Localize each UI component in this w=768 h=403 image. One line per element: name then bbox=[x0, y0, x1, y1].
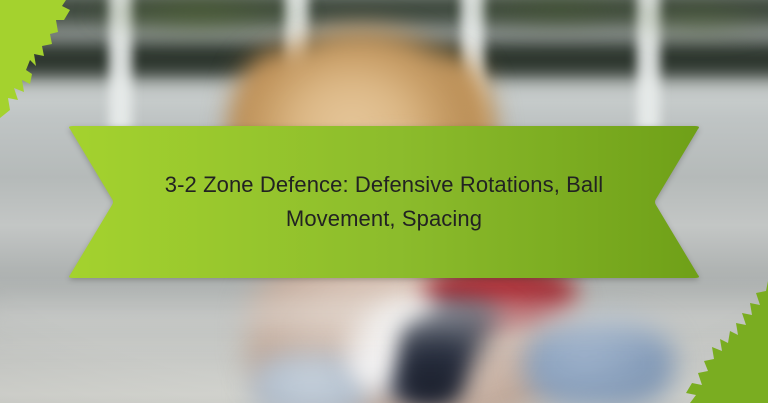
banner-title-text: 3-2 Zone Defence: Defensive Rotations, B… bbox=[150, 168, 618, 236]
banner-title: 3-2 Zone Defence: Defensive Rotations, B… bbox=[150, 126, 618, 278]
torn-corner-bottom-right-icon bbox=[680, 281, 768, 403]
title-banner: 3-2 Zone Defence: Defensive Rotations, B… bbox=[64, 126, 704, 278]
featured-image-card: 3-2 Zone Defence: Defensive Rotations, B… bbox=[0, 0, 768, 403]
torn-corner-top-left-icon bbox=[0, 0, 80, 120]
